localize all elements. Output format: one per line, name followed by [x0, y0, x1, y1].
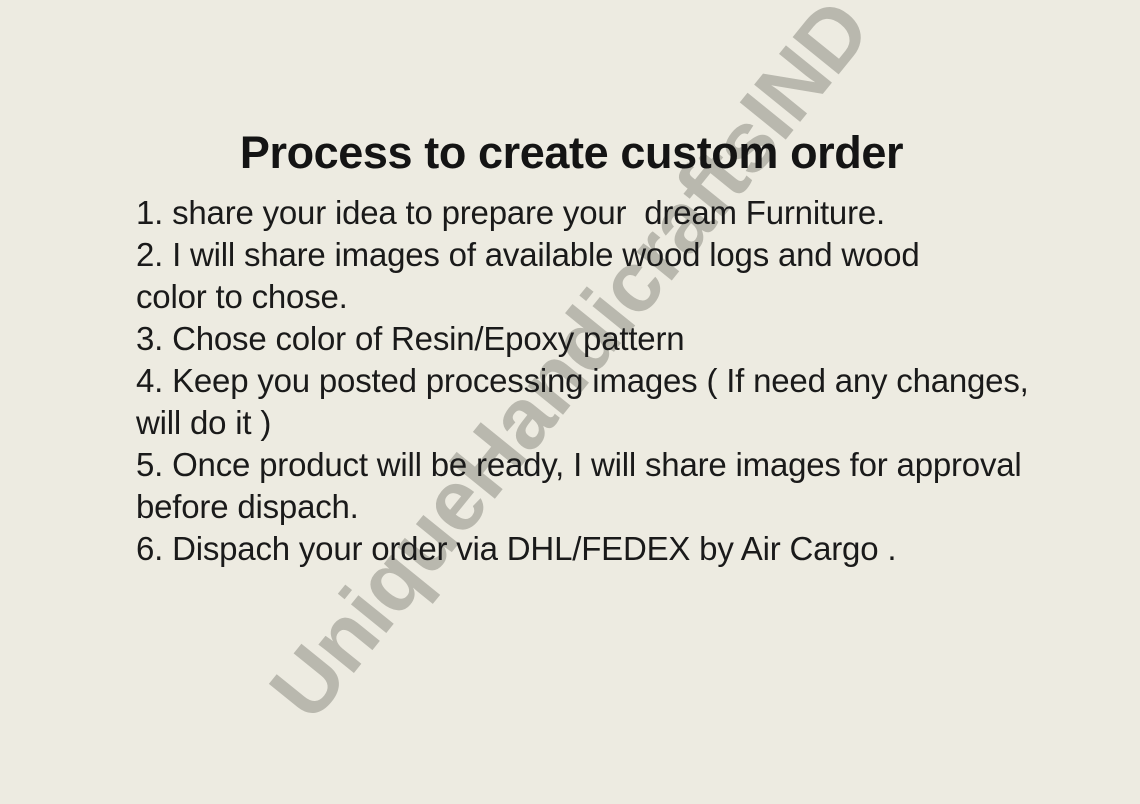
step-line: 1. share your idea to prepare your dream… [136, 192, 1036, 234]
step-line: 2. I will share images of available wood… [136, 234, 1036, 276]
step-line: 6. Dispach your order via DHL/FEDEX by A… [136, 528, 1036, 570]
step-line: 5. Once product will be ready, I will sh… [136, 444, 1036, 486]
step-line: 3. Chose color of Resin/Epoxy pattern [136, 318, 1036, 360]
page-title: Process to create custom order [0, 127, 1140, 179]
step-line: color to chose. [136, 276, 1036, 318]
steps-list: 1. share your idea to prepare your dream… [136, 192, 1036, 570]
step-line: 4. Keep you posted processing images ( I… [136, 360, 1036, 402]
slide-content: Process to create custom order 1. share … [0, 0, 1140, 804]
slide-page: UniqueHandicraftsIND Process to create c… [0, 0, 1140, 804]
step-line: before dispach. [136, 486, 1036, 528]
step-line: will do it ) [136, 402, 1036, 444]
